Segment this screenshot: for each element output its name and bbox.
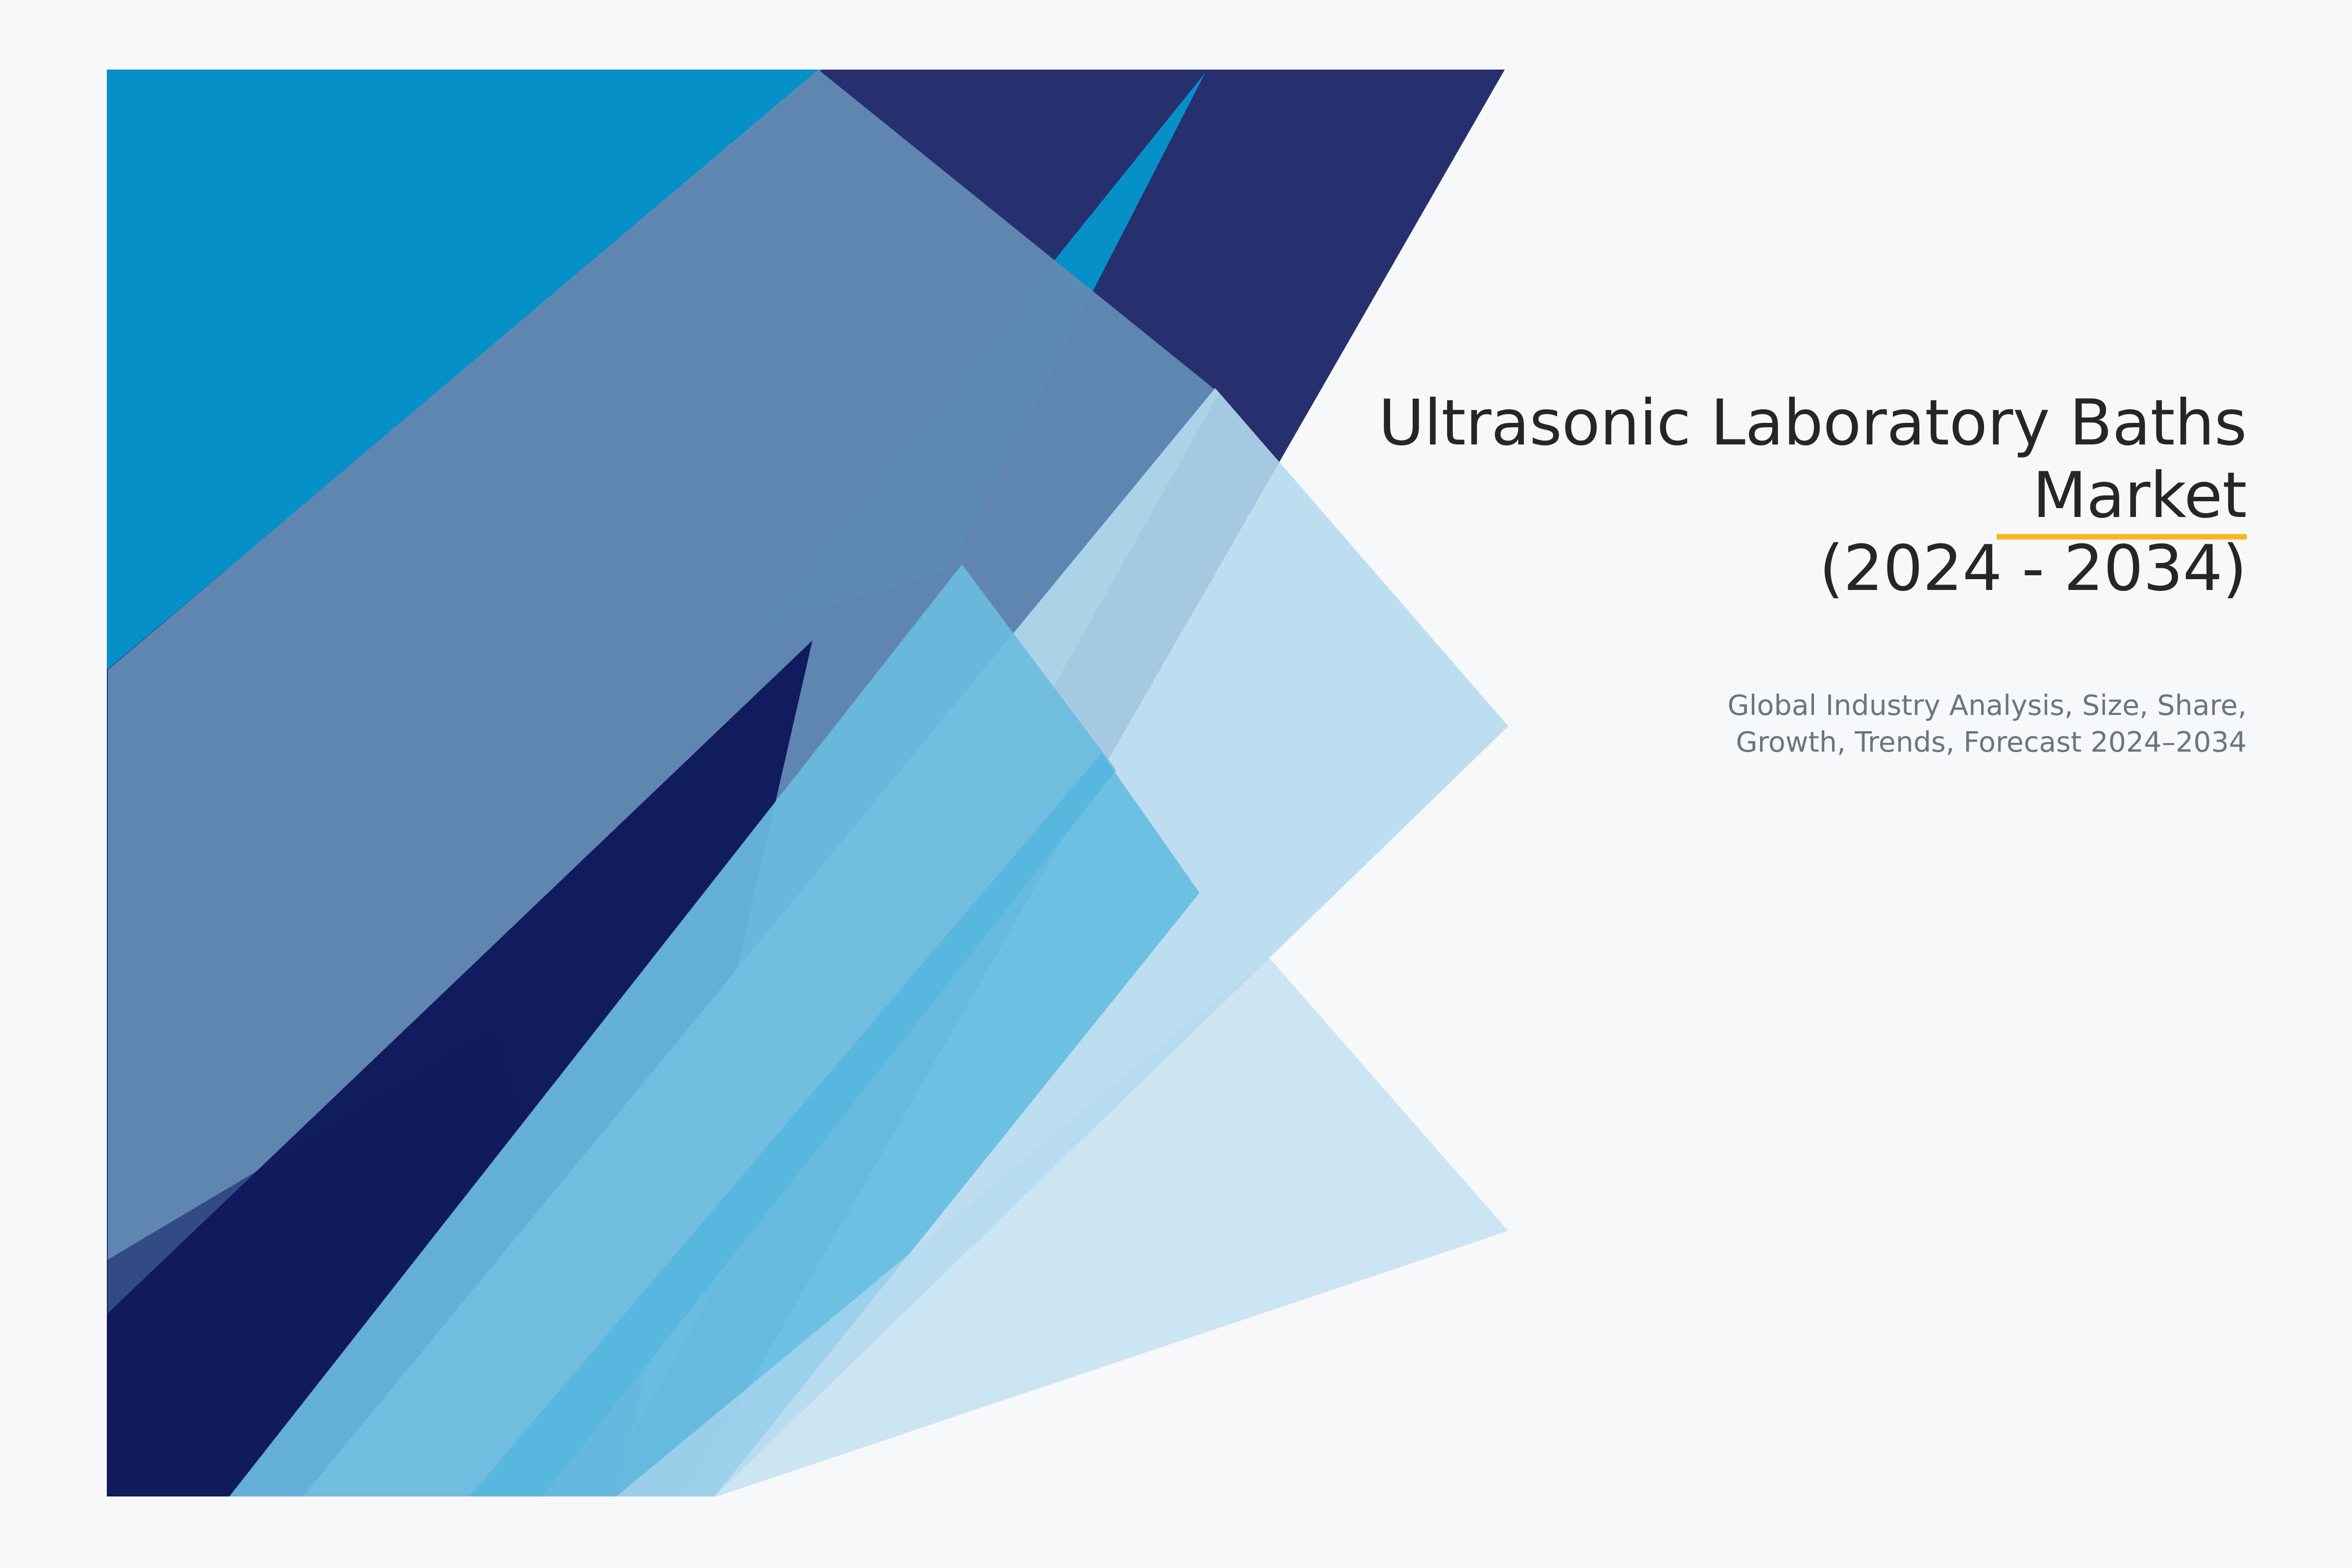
cover-text-block: Ultrasonic Laboratory Baths Market(2024 … bbox=[1218, 387, 2247, 760]
artwork-canvas bbox=[107, 70, 1508, 1496]
page-title: Ultrasonic Laboratory Baths Market(2024 … bbox=[1218, 387, 2247, 605]
page-subtitle-line-2: Growth, Trends, Forecast 2024–2034 bbox=[1736, 726, 2247, 759]
title-accent-underline bbox=[1997, 534, 2247, 539]
page-subtitle-line-1: Global Industry Analysis, Size, Share, bbox=[1728, 689, 2247, 722]
page-title-line-1: Ultrasonic Laboratory Baths Market bbox=[1378, 387, 2247, 532]
page-title-line-2: (2024 - 2034) bbox=[1819, 532, 2247, 605]
abstract-geometric-cover-art bbox=[107, 70, 1508, 1496]
report-cover-page: Ultrasonic Laboratory Baths Market(2024 … bbox=[0, 0, 2352, 1568]
page-subtitle: Global Industry Analysis, Size, Share,Gr… bbox=[1218, 687, 2247, 760]
